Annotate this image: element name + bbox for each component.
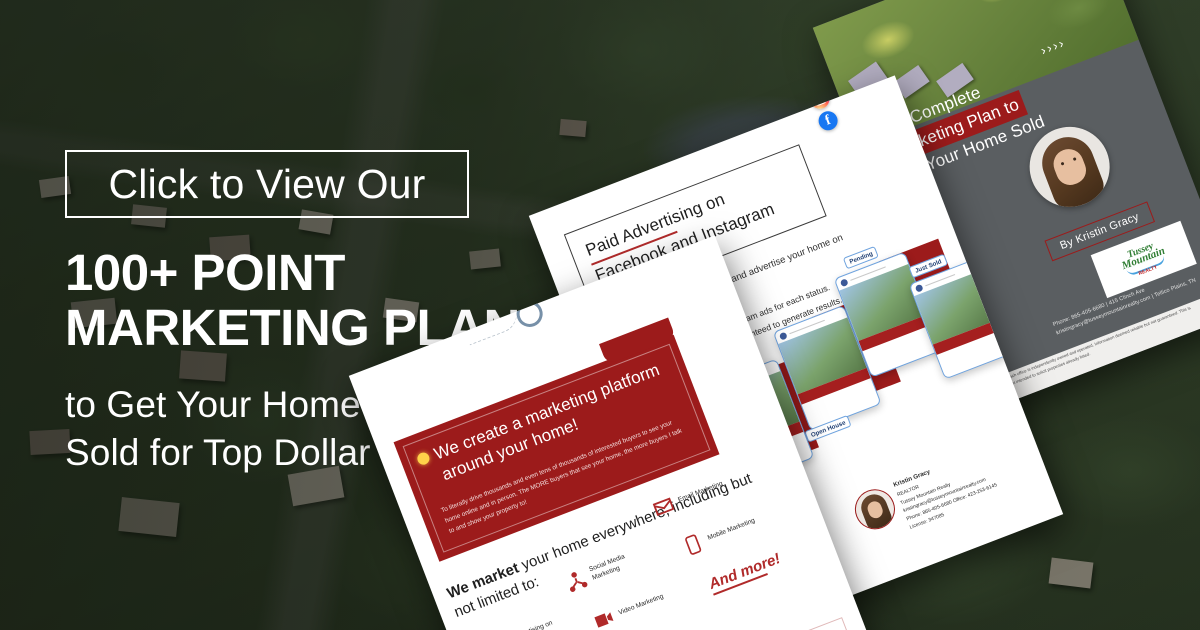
video-camera-icon — [590, 605, 618, 630]
channel-item: Video Marketing — [590, 581, 681, 630]
channel-label: Video Marketing — [617, 587, 678, 618]
facebook-icon[interactable]: f — [816, 108, 841, 133]
and-more-text: And more! — [707, 550, 783, 593]
channel-item: Paid Advertising on Facebook and Instagr… — [473, 618, 566, 630]
channel-label: Paid Advertising on Facebook and Instagr… — [498, 618, 565, 630]
avatar — [915, 284, 924, 293]
left-page-footer-note: Check the upcoming pages for more detail… — [639, 617, 851, 630]
agent-avatar — [849, 483, 901, 535]
click-to-view-button[interactable]: Click to View Our — [65, 150, 469, 218]
cta-label: Click to View Our — [108, 164, 425, 205]
channel-label: YouTube Marketing — [645, 626, 706, 630]
avatar — [840, 278, 849, 287]
avatar — [779, 332, 788, 341]
channel-item: YouTube Marketing — [618, 620, 709, 630]
title-line-1: 100+ POINT — [65, 245, 535, 300]
agent-bio: Kristin Gracy REALTOR Tussey Mountain Re… — [849, 434, 1035, 549]
promo-banner: Click to View Our 100+ POINT MARKETING P… — [0, 0, 1200, 630]
and-more-label: And more! — [707, 550, 784, 595]
